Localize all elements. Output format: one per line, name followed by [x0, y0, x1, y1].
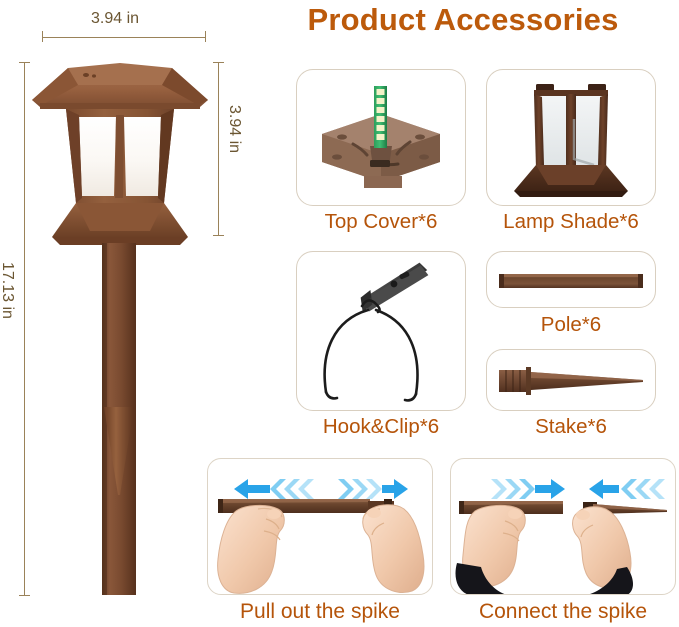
top-cover-icon — [306, 84, 456, 196]
total-height-dimension-label: 17.13 in — [0, 262, 16, 319]
accessory-label-hook-clip: Hook&Clip*6 — [290, 415, 472, 439]
arrow-right-group — [234, 479, 408, 499]
head-height-dimension-line — [218, 62, 219, 235]
head-height-dimension-label: 3.94 in — [225, 105, 243, 153]
head-height-tick-top — [213, 62, 224, 63]
lamp-shade-icon — [496, 79, 646, 199]
accessory-label-lamp-shade: Lamp Shade*6 — [486, 210, 656, 234]
arrow-right-pointing-group — [491, 479, 565, 499]
total-height-tick-bottom — [19, 595, 30, 596]
accessory-card-top-cover[interactable] — [296, 69, 466, 206]
left-hand — [456, 505, 526, 595]
step-panel-pull-out-spike[interactable] — [207, 458, 433, 595]
head-height-tick-bottom — [213, 235, 224, 236]
width-dimension-line — [42, 37, 206, 38]
accessory-label-stake: Stake*6 — [486, 415, 656, 439]
arrow-left-pointing-group — [589, 479, 665, 499]
page-title: Product Accessories — [258, 2, 668, 38]
width-dimension-tick-right — [205, 31, 206, 42]
total-height-dimension-line — [24, 62, 25, 595]
right-hand — [363, 505, 424, 593]
width-dimension-tick-left — [42, 31, 43, 42]
accessory-card-pole[interactable] — [486, 251, 656, 308]
accessory-label-pole: Pole*6 — [486, 313, 656, 337]
accessory-card-stake[interactable] — [486, 349, 656, 411]
accessory-label-top-cover: Top Cover*6 — [296, 210, 466, 234]
hook-clip-icon — [306, 266, 456, 401]
lantern-illustration — [30, 55, 210, 600]
connect-spike-icon — [451, 459, 676, 595]
step-panel-connect-spike[interactable] — [450, 458, 676, 595]
total-height-tick-top — [19, 62, 30, 63]
left-hand — [218, 505, 285, 593]
step-label-connect-spike: Connect the spike — [450, 600, 676, 624]
accessory-card-lamp-shade[interactable] — [486, 69, 656, 206]
step-label-pull-out-spike: Pull out the spike — [207, 600, 433, 624]
pole-icon — [495, 271, 647, 291]
right-hand — [573, 507, 633, 595]
width-dimension-label: 3.94 in — [91, 10, 139, 28]
stake-icon — [495, 363, 647, 399]
pull-out-spike-icon — [208, 459, 433, 595]
accessory-card-hook-clip[interactable] — [296, 251, 466, 411]
